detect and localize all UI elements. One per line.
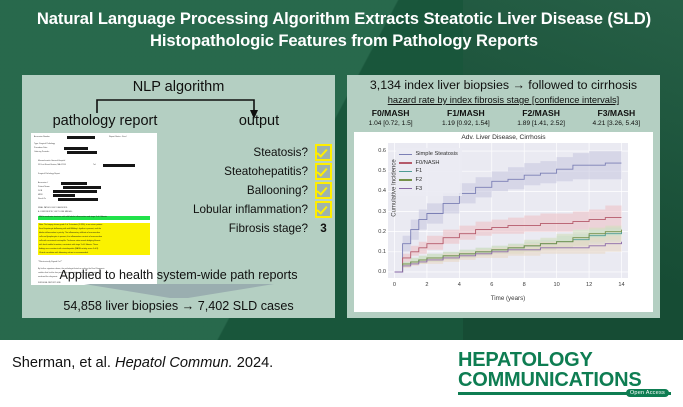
pathology-report-image: Accession Number Report Status : Final T… xyxy=(31,133,157,285)
citation: Sherman, et al. Hepatol Commun. 2024. xyxy=(12,355,273,371)
output-label: output xyxy=(204,113,314,129)
cumulative-incidence-chart: Adv. Liver Disease, Cirrhosis 0.00.10.20… xyxy=(354,132,653,312)
chart-x-tick: 8 xyxy=(523,282,526,288)
chart-legend-swatch xyxy=(399,188,412,189)
chart-x-tick: 2 xyxy=(425,282,428,288)
chart-legend-label: F2 xyxy=(416,177,423,183)
chart-legend-swatch xyxy=(399,171,412,172)
chart-x-tick: 6 xyxy=(490,282,493,288)
pathology-report-label: pathology report xyxy=(30,113,180,129)
nlp-algorithm-label: NLP algorithm xyxy=(22,79,335,95)
chart-legend: Simple SteatosisF0/NASHF1F2F3 xyxy=(396,148,462,196)
chart-y-tick: 0.4 xyxy=(378,188,386,194)
hazard-col-f1: F1/MASH 1.19 [0.92, 1.54] xyxy=(428,108,503,129)
left-panel: NLP algorithm pathology report output Ac… xyxy=(22,75,335,318)
chart-y-tick: 0.1 xyxy=(378,249,386,255)
hazard-stage-label: F3/MASH xyxy=(579,108,654,119)
output-question-label: Fibrosis stage? xyxy=(229,222,315,235)
page-title: Natural Language Processing Algorithm Ex… xyxy=(14,8,674,52)
output-question-label: Steatohepatitis? xyxy=(224,165,315,178)
chart-x-tick: 0 xyxy=(393,282,396,288)
chart-x-axis-label: Time (years) xyxy=(388,295,628,302)
chart-legend-swatch xyxy=(399,154,412,155)
chart-y-tick: 0.3 xyxy=(378,209,386,215)
hazard-col-f2: F2/MASH 1.89 [1.41, 2.52] xyxy=(504,108,579,129)
chart-x-tick: 12 xyxy=(586,282,592,288)
chart-legend-item: Simple Steatosis xyxy=(399,150,458,159)
chart-legend-swatch xyxy=(399,162,412,163)
hazard-stage-label: F1/MASH xyxy=(428,108,503,119)
citation-author: Sherman, et al. xyxy=(12,355,111,371)
checkbox-checked-icon[interactable] xyxy=(315,144,332,161)
chart-title: Adv. Liver Disease, Cirrhosis xyxy=(354,134,653,141)
chart-x-tick: 14 xyxy=(618,282,624,288)
output-row-ballooning: Ballooning? xyxy=(172,181,332,200)
output-row-fibrosis-stage: Fibrosis stage? 3 xyxy=(172,219,332,238)
chart-x-tick: 10 xyxy=(554,282,560,288)
logo-line-1: HEPATOLOGY xyxy=(458,350,671,370)
output-question-list: Steatosis? Steatohepatitis? Ballooning? … xyxy=(172,143,332,238)
hazard-stage-label: F2/MASH xyxy=(504,108,579,119)
chart-legend-item: F1 xyxy=(399,167,458,176)
hepatology-communications-logo: HEPATOLOGY COMMUNICATIONS Open Access xyxy=(458,350,671,395)
fibrosis-stage-value: 3 xyxy=(315,222,332,235)
checkbox-checked-icon[interactable] xyxy=(315,201,332,218)
chart-legend-item: F2 xyxy=(399,176,458,185)
citation-year: 2024. xyxy=(237,355,274,371)
chart-legend-swatch xyxy=(399,179,412,180)
chart-legend-item: F0/NASH xyxy=(399,159,458,168)
output-row-lobular-inflammation: Lobular inflammation? xyxy=(172,200,332,219)
output-row-steatosis: Steatosis? xyxy=(172,143,332,162)
hazard-value: 4.21 [3.26, 5.43] xyxy=(579,119,654,129)
output-question-label: Ballooning? xyxy=(247,184,315,197)
hazard-stage-label: F0/MASH xyxy=(353,108,428,119)
chart-y-tick: 0.5 xyxy=(378,168,386,174)
checkbox-checked-icon[interactable] xyxy=(315,163,332,180)
hazard-value: 1.04 [0.72, 1.5] xyxy=(353,119,428,129)
logo-rule: Open Access xyxy=(458,392,671,395)
hazard-col-f0: F0/MASH 1.04 [0.72, 1.5] xyxy=(353,108,428,129)
footer: Sherman, et al. Hepatol Commun. 2024. HE… xyxy=(0,340,683,407)
logo-line-2: COMMUNICATIONS xyxy=(458,370,671,390)
hazard-col-f3: F3/MASH 4.21 [3.26, 5.43] xyxy=(579,108,654,129)
biopsies-result-text: 54,858 liver biopsies → 7,402 SLD cases xyxy=(22,299,335,313)
chart-legend-item: F3 xyxy=(399,184,458,193)
chart-y-tick: 0.0 xyxy=(378,269,386,275)
chart-y-tick: 0.2 xyxy=(378,229,386,235)
output-row-steatohepatitis: Steatohepatitis? xyxy=(172,162,332,181)
chart-legend-label: F0/NASH xyxy=(416,160,440,166)
applied-text: Applied to health system-wide path repor… xyxy=(22,268,335,282)
slide-root: Natural Language Processing Algorithm Ex… xyxy=(0,0,683,407)
hazard-subhead: hazard rate by index fibrosis stage [con… xyxy=(347,95,660,105)
chart-plot-area: 0.00.10.20.30.40.50.6 02468101214 Cumula… xyxy=(388,143,628,278)
output-question-label: Steatosis? xyxy=(253,146,315,159)
funnel-arrow-icon xyxy=(84,284,274,298)
chart-legend-label: F1 xyxy=(416,168,423,174)
open-access-badge: Open Access xyxy=(626,389,669,397)
right-panel: 3,134 index liver biopsies → followed to… xyxy=(347,75,660,318)
chart-legend-label: Simple Steatosis xyxy=(416,151,458,157)
citation-journal: Hepatol Commun. xyxy=(115,355,233,371)
cohort-headline: 3,134 index liver biopsies → followed to… xyxy=(347,78,660,92)
hazard-value: 1.19 [0.92, 1.54] xyxy=(428,119,503,129)
chart-x-tick: 4 xyxy=(458,282,461,288)
checkbox-checked-icon[interactable] xyxy=(315,182,332,199)
output-question-label: Lobular inflammation? xyxy=(193,203,315,216)
chart-y-tick: 0.6 xyxy=(378,148,386,154)
hazard-rate-table: F0/MASH 1.04 [0.72, 1.5] F1/MASH 1.19 [0… xyxy=(353,108,654,129)
hazard-value: 1.89 [1.41, 2.52] xyxy=(504,119,579,129)
chart-legend-label: F3 xyxy=(416,186,423,192)
